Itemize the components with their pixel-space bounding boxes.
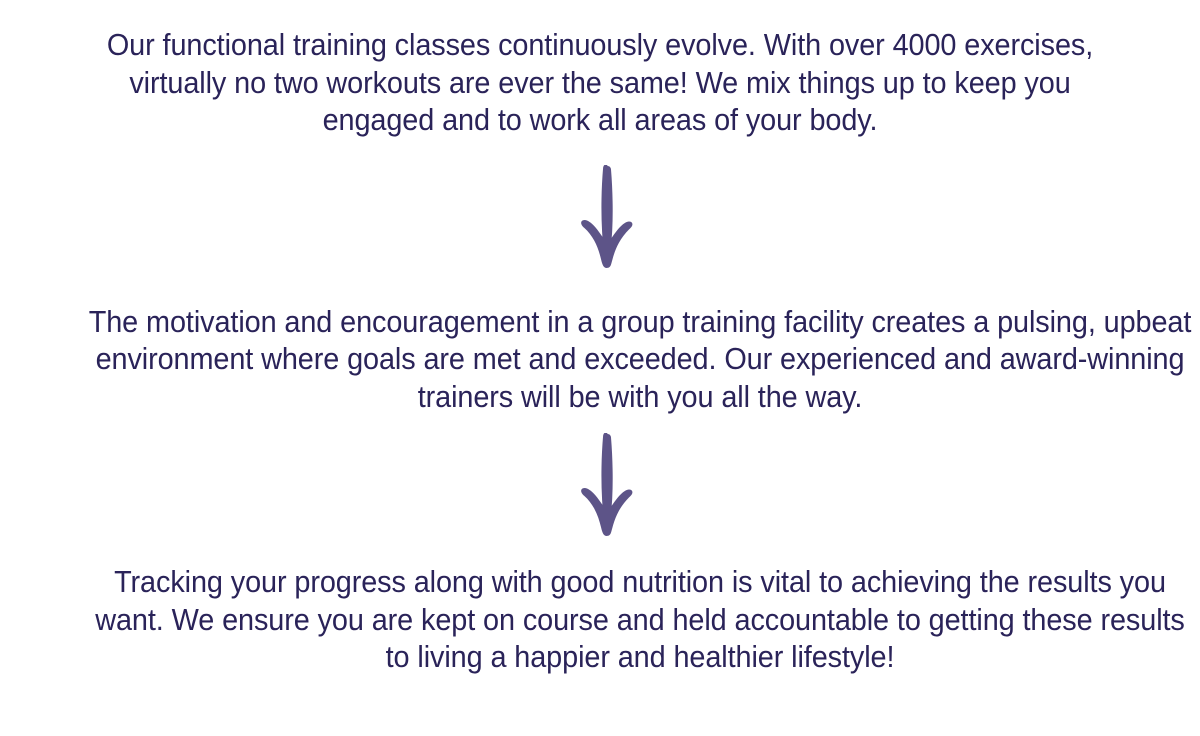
flow-step-1: Our functional training classes continuo… (40, 26, 1160, 139)
flow-step-2: The motivation and encouragement in a gr… (40, 303, 1160, 416)
flow-connector-1 (0, 139, 1200, 303)
flow-step-1-text: Our functional training classes continuo… (79, 26, 1121, 139)
flow-step-3-text: Tracking your progress along with good n… (82, 563, 1198, 676)
flow-diagram: Our functional training classes continuo… (0, 0, 1200, 736)
flow-step-3: Tracking your progress along with good n… (40, 563, 1160, 676)
down-arrow-icon (581, 433, 633, 545)
down-arrow-icon (581, 165, 633, 277)
flow-connector-2 (0, 415, 1200, 563)
flow-step-2-text: The motivation and encouragement in a gr… (82, 303, 1198, 416)
